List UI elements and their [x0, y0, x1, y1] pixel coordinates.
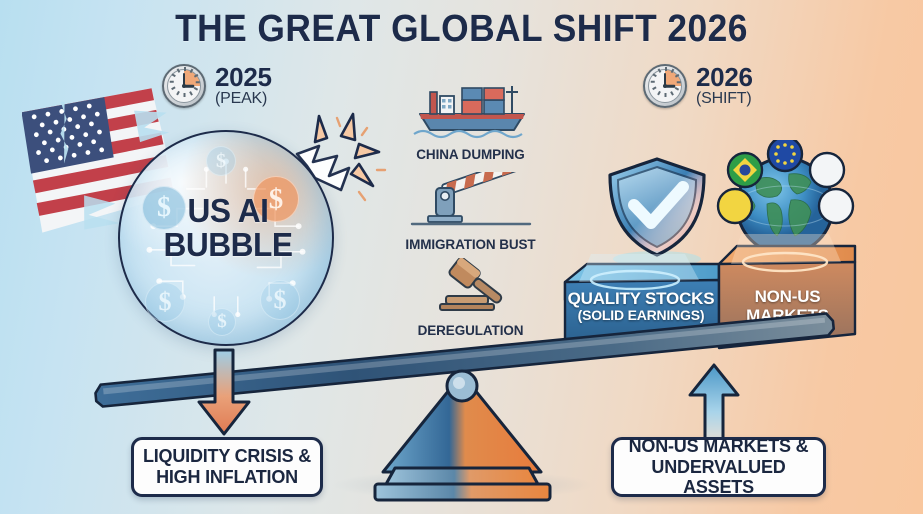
driver-deregulation: DEREGULATION [383, 258, 558, 338]
shield-check-icon [598, 155, 716, 267]
eu-flag-icon [768, 140, 802, 171]
dollar-coin-icon: $ [208, 308, 236, 336]
cargo-ship-icon [406, 78, 536, 140]
box-label-non-us-line1: NON-US [717, 288, 858, 307]
dollar-coin-icon: $ [260, 280, 300, 320]
colombia-flag-icon [718, 189, 752, 224]
usa-flag-icon [810, 153, 844, 187]
bubble-label-line2: BUBBLE [124, 228, 331, 262]
year-badge-2026: 2026 (SHIFT) [643, 64, 753, 108]
year-label-2025: 2025 [215, 64, 272, 91]
driver-label-china-dumping: CHINA DUMPING [383, 147, 558, 162]
driver-immigration-bust: IMMIGRATION BUST [383, 172, 558, 252]
callout-left-line2: HIGH INFLATION [143, 467, 311, 488]
arrow-up-icon [687, 363, 741, 445]
year-label-2026: 2026 [696, 64, 753, 91]
year-badge-2025: 2025 (PEAK) [162, 64, 272, 108]
uae-flag-icon [819, 189, 853, 223]
driver-label-immigration-bust: IMMIGRATION BUST [383, 237, 558, 252]
callout-non-us-markets[interactable]: NON-US MARKETS & UNDERVALUED ASSETS [611, 437, 826, 497]
barrier-gate-icon [406, 172, 536, 230]
dollar-coin-icon: $ [206, 146, 236, 176]
clock-icon [643, 64, 687, 108]
dollar-coin-icon: $ [145, 282, 185, 322]
infographic-canvas: THE GREAT GLOBAL SHIFT 2026 [0, 0, 923, 514]
brazil-flag-icon [728, 153, 762, 187]
callout-liquidity-crisis[interactable]: LIQUIDITY CRISIS & HIGH INFLATION [131, 437, 323, 497]
clock-icon [162, 64, 206, 108]
phase-label-peak: (PEAK) [215, 91, 272, 108]
driver-label-deregulation: DEREGULATION [383, 323, 558, 338]
fulcrum-icon [355, 368, 570, 506]
phase-label-shift: (SHIFT) [696, 91, 753, 108]
box-label-quality-stocks-line1: QUALITY STOCKS [561, 290, 721, 309]
page-title: THE GREAT GLOBAL SHIFT 2026 [32, 8, 890, 51]
callout-right-line1: NON-US MARKETS & [614, 436, 823, 457]
callout-right-line2: UNDERVALUED ASSETS [614, 457, 823, 498]
driver-china-dumping: CHINA DUMPING [383, 78, 558, 162]
gavel-icon [406, 258, 536, 316]
callout-left-line1: LIQUIDITY CRISIS & [143, 446, 311, 467]
arrow-down-icon [196, 348, 252, 436]
